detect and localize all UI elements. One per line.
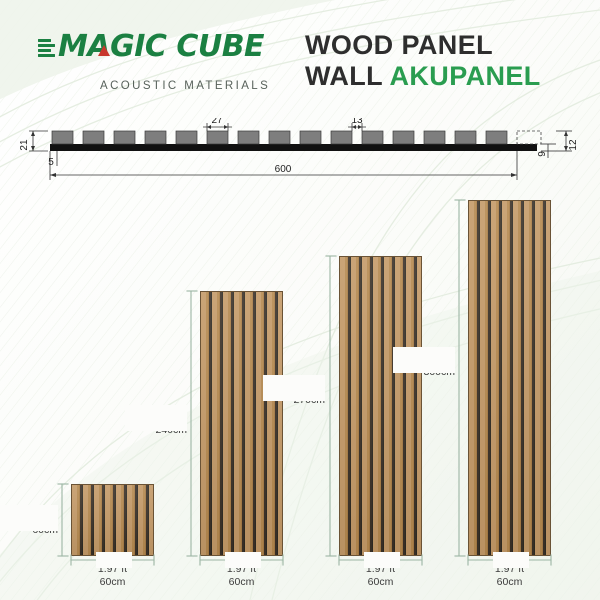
technical-drawing: 21 5 27 13 600 12 9 xyxy=(0,118,600,198)
panel-270cm-height-label: 8.86 ft270cm xyxy=(263,381,325,407)
panel-270cm[interactable] xyxy=(339,256,422,556)
dim-total-600: 600 xyxy=(275,164,292,175)
panel-270cm-width-label: 1.97 ft60cm xyxy=(339,563,422,589)
title-line-1: WOOD PANEL xyxy=(305,31,541,60)
panel-240cm[interactable] xyxy=(200,291,283,556)
wood-slat-texture xyxy=(469,201,550,555)
title-line-2-green: AKUPANEL xyxy=(390,61,541,91)
title-line-2-dark: WALL xyxy=(305,61,383,91)
wood-slat-texture xyxy=(72,485,153,555)
title-line-2: WALL AKUPANEL xyxy=(305,62,541,91)
panel-240cm-width-label: 1.97 ft60cm xyxy=(200,563,283,589)
logo-lockup: MAGIC CUBE xyxy=(38,32,264,62)
detail-callout-box xyxy=(517,131,541,144)
panel-300cm-height-label: 9.84 ft300cm xyxy=(393,353,455,379)
panel-300cm-width-label: 1.97 ft60cm xyxy=(468,563,551,589)
dim-base-5: 5 xyxy=(48,157,54,168)
logo-wordmark: MAGIC CUBE xyxy=(58,32,264,62)
slat-blocks xyxy=(52,131,507,144)
infographic-canvas: MAGIC CUBE ACOUSTIC MATERIALS WOOD PANEL… xyxy=(0,0,600,600)
panel-300cm[interactable] xyxy=(468,200,551,556)
panel-base-bar xyxy=(50,144,537,151)
page-title: WOOD PANEL WALL AKUPANEL xyxy=(305,31,541,91)
speed-lines-icon xyxy=(38,37,55,57)
panel-60cm-width-label: 1.97 ft60cm xyxy=(71,563,154,589)
panel-240cm-height-label: 7.87 ft240cm xyxy=(125,411,187,437)
wood-slat-texture xyxy=(340,257,421,555)
dim-detail-12: 12 xyxy=(568,139,579,151)
panel-60cm-height-label: 1.97 ft60cm xyxy=(0,511,58,537)
triangle-accent-icon xyxy=(98,45,110,56)
wood-slat-texture xyxy=(201,292,282,555)
dim-gap-13: 13 xyxy=(351,118,363,126)
dim-height-21: 21 xyxy=(19,139,30,151)
brand-logo: MAGIC CUBE ACOUSTIC MATERIALS xyxy=(38,32,288,94)
dim-slat-27: 27 xyxy=(211,118,223,126)
logo-wordmark-text: MAGIC CUBE xyxy=(58,29,264,64)
panel-60cm[interactable] xyxy=(71,484,154,556)
logo-tagline: ACOUSTIC MATERIALS xyxy=(100,80,270,92)
dim-detail-9: 9 xyxy=(537,151,548,157)
